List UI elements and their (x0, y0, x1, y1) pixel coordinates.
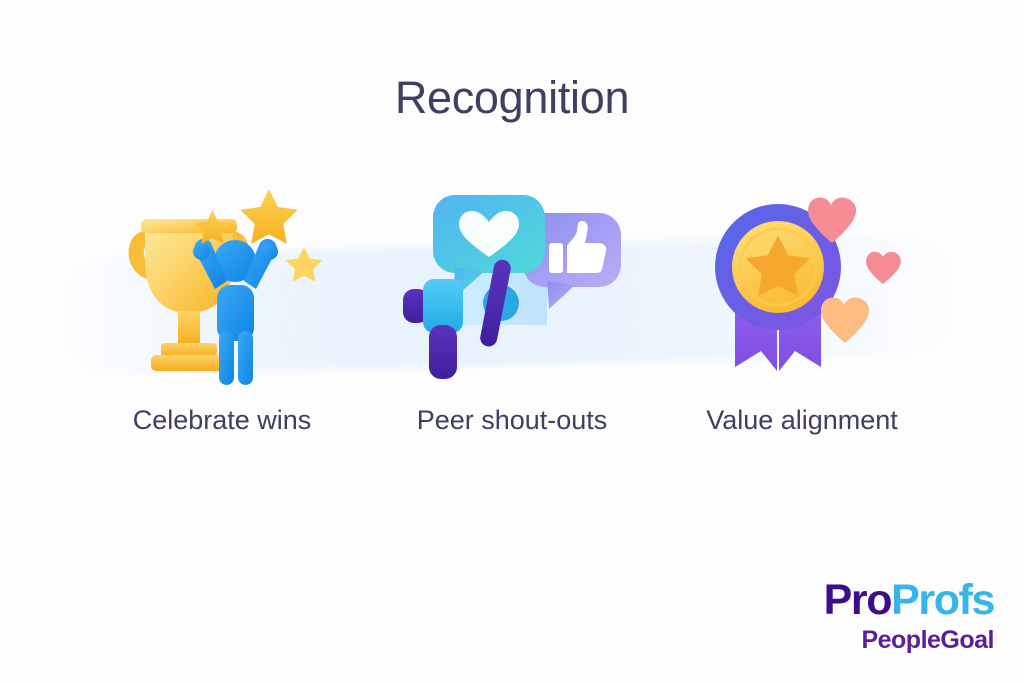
logo-subtitle: PeopleGoal (824, 628, 994, 653)
feature-value-alignment: Value alignment (657, 185, 947, 443)
feature-label: Peer shout-outs (417, 397, 608, 443)
recognition-infographic: Recognition (0, 0, 1024, 683)
feature-celebrate-wins: Celebrate wins (77, 185, 367, 443)
trophy-with-cheering-person-and-stars-icon (107, 185, 337, 385)
logo-pro-text: Pro (824, 576, 891, 624)
feature-peer-shout-outs: Peer shout-outs (367, 185, 657, 443)
proprofs-peoplegoal-logo: ProProfs PeopleGoal (824, 579, 994, 653)
megaphone-with-heart-and-thumbs-up-bubbles-icon (397, 185, 627, 385)
award-rosette-with-hearts-icon (687, 185, 917, 385)
logo-profs-text: Profs (891, 576, 994, 624)
feature-list: Celebrate wins (0, 185, 1024, 505)
feature-label: Value alignment (706, 397, 898, 443)
feature-label: Celebrate wins (133, 397, 312, 443)
page-title: Recognition (0, 72, 1024, 124)
logo-wordmark: ProProfs (824, 579, 994, 622)
